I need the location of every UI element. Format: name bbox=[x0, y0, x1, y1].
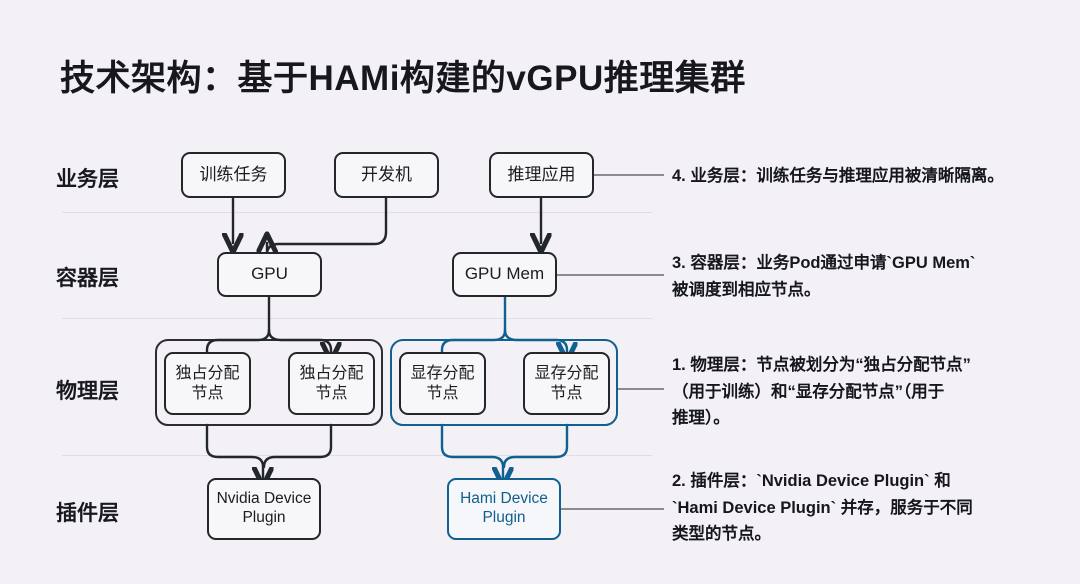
node-nvidia-device-plugin[interactable]: Nvidia Device Plugin bbox=[207, 478, 321, 540]
layer-label-container: 容器层 bbox=[56, 262, 176, 292]
node-gpu-mem[interactable]: GPU Mem bbox=[452, 252, 557, 297]
node-dev-machine[interactable]: 开发机 bbox=[334, 152, 439, 198]
layer-label-plugin: 插件层 bbox=[56, 497, 176, 527]
leader-line-physical bbox=[618, 388, 664, 390]
node-exclusive-1[interactable]: 独占分配 节点 bbox=[164, 352, 251, 415]
node-memory-1[interactable]: 显存分配 节点 bbox=[399, 352, 486, 415]
node-hami-device-plugin[interactable]: Hami Device Plugin bbox=[447, 478, 561, 540]
node-exclusive-2[interactable]: 独占分配 节点 bbox=[288, 352, 375, 415]
node-training-task[interactable]: 训练任务 bbox=[181, 152, 286, 198]
page-title: 技术架构：基于HAMi构建的vGPU推理集群 bbox=[60, 50, 746, 101]
layer-separator-1 bbox=[62, 212, 652, 213]
layer-separator-2 bbox=[62, 318, 652, 319]
layer-label-business: 业务层 bbox=[56, 163, 176, 193]
node-memory-2[interactable]: 显存分配 节点 bbox=[523, 352, 610, 415]
annotation-physical: 1. 物理层：节点被划分为“独占分配节点” （用于训练）和“显存分配节点”（用于… bbox=[672, 352, 971, 432]
leader-line-container bbox=[557, 274, 664, 276]
leader-line-plugin bbox=[561, 508, 664, 510]
diagram-canvas: 技术架构：基于HAMi构建的vGPU推理集群 业务层 容器层 物理层 插件层 bbox=[0, 0, 1080, 584]
annotation-business: 4. 业务层：训练任务与推理应用被清晰隔离。 bbox=[672, 163, 1004, 190]
annotation-container: 3. 容器层：业务Pod通过申请`GPU Mem` 被调度到相应节点。 bbox=[672, 250, 975, 303]
annotation-plugin: 2. 插件层：`Nvidia Device Plugin` 和 `Hami De… bbox=[672, 468, 973, 548]
leader-line-business bbox=[594, 174, 664, 176]
node-gpu[interactable]: GPU bbox=[217, 252, 322, 297]
layer-separator-3 bbox=[62, 455, 652, 456]
node-inference-app[interactable]: 推理应用 bbox=[489, 152, 594, 198]
